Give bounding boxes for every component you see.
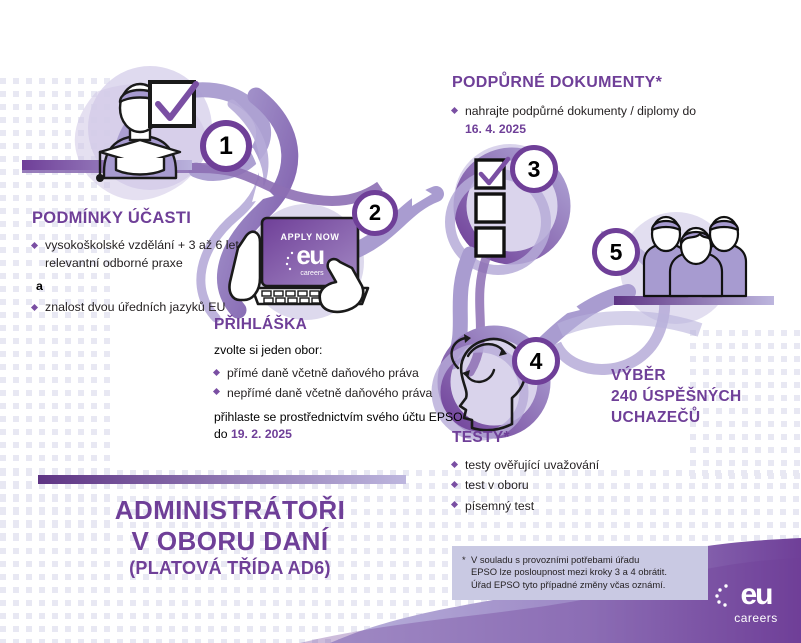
step-2-number-label: 2 [369, 200, 381, 226]
logo-careers-text: careers [724, 612, 788, 624]
step-1-bullet-1: vysokoškolské vzdělání + 3 až 6 let rele… [45, 238, 239, 270]
checkbox-list-icon [476, 159, 508, 256]
list-item: test v oboru [452, 476, 682, 495]
list-item: nahrajte podpůrné dokumenty / diplomy do… [452, 102, 712, 139]
step-4-bullet-1: testy ověřující uvažování [465, 458, 599, 472]
bullet-diamond-icon [451, 501, 458, 508]
list-item: testy ověřující uvažování [452, 456, 682, 475]
step-number-2: 2 [352, 190, 398, 236]
bullet-diamond-icon [451, 107, 458, 114]
step-5-heading-line-2: 240 ÚSPĚŠNÝCH [611, 387, 791, 408]
laptop-careers-logo: careers [300, 270, 324, 277]
step-2-text-block: PŘIHLÁŠKA zvolte si jeden obor: přímé da… [214, 316, 464, 444]
step-5-number-label: 5 [610, 239, 623, 266]
step-2-footer: přihlaste se prostřednictvím svého účtu … [214, 409, 464, 444]
footnote-line-2: EPSO lze posloupnost mezi kroky 3 a 4 ob… [471, 566, 698, 578]
list-item: písemný test [452, 497, 682, 516]
bullet-diamond-icon [213, 369, 220, 376]
list-item: přímé daně včetně daňového práva [214, 364, 464, 383]
bullet-diamond-icon [451, 481, 458, 488]
main-title-line-1: ADMINISTRÁTOŘI [20, 495, 440, 526]
step-number-5: 5 [592, 228, 640, 276]
bullet-diamond-icon [31, 242, 38, 249]
list-item: vysokoškolské vzdělání + 3 až 6 let rele… [32, 237, 267, 272]
step-1-conjunction: a [36, 279, 267, 293]
laptop-eu-logo: eu [296, 240, 324, 270]
main-title-block: ADMINISTRÁTOŘI V OBORU DANÍ (PLATOVÁ TŘÍ… [20, 495, 440, 582]
infographic-canvas: APPLY NOW eu careers [0, 0, 801, 643]
step-3-deadline-date: 16. 4. 2025 [465, 122, 526, 136]
step-2-heading: PŘIHLÁŠKA [214, 316, 464, 334]
step-5-heading-line-1: VÝBĚR [611, 366, 791, 387]
step-4-bullet-3: písemný test [465, 499, 534, 513]
step-3-text-block: PODPŮRNÉ DOKUMENTY* nahrajte podpůrné do… [452, 74, 712, 140]
step-1-heading: PODMÍNKY ÚČASTI [32, 209, 267, 228]
bullet-diamond-icon [451, 461, 458, 468]
step-3-bullet-text: nahrajte podpůrné dokumenty / diplomy do [465, 104, 696, 118]
step-4-text-block: TESTY* testy ověřující uvažování test v … [452, 429, 682, 517]
step-1-text-block: PODMÍNKY ÚČASTI vysokoškolské vzdělání +… [32, 209, 267, 318]
step-5-heading: VÝBĚR 240 ÚSPĚŠNÝCH UCHAZEČŮ [611, 366, 791, 428]
three-people-icon [644, 217, 746, 296]
logo-stars-icon [710, 582, 736, 608]
step-2-bullet-1: přímé daně včetně daňového práva [227, 366, 419, 380]
list-item: nepřímé daně včetně daňového práva [214, 384, 464, 403]
step-number-4: 4 [512, 337, 560, 385]
step-1-bullet-2: znalost dvou úředních jazyků EU [45, 300, 225, 314]
step-4-bullet-2: test v oboru [465, 478, 529, 492]
step-4-number-label: 4 [530, 348, 543, 375]
step-2-intro: zvolte si jeden obor: [214, 343, 464, 357]
step-3-number-label: 3 [528, 156, 541, 183]
step-5-text-block: VÝBĚR 240 ÚSPĚŠNÝCH UCHAZEČŮ [611, 366, 791, 428]
main-title-line-2: V OBORU DANÍ [20, 526, 440, 557]
step-4-heading: TESTY* [452, 429, 682, 447]
footnote-box: * V souladu s provozními potřebami úřadu… [452, 546, 708, 600]
list-item: znalost dvou úředních jazyků EU [32, 299, 267, 317]
step-1-number-label: 1 [219, 132, 233, 161]
step-5-heading-line-3: UCHAZEČŮ [611, 408, 791, 429]
title-divider-bar [38, 475, 406, 484]
step-3-heading: PODPŮRNÉ DOKUMENTY* [452, 74, 712, 92]
step-number-3: 3 [510, 145, 558, 193]
bullet-diamond-icon [213, 388, 220, 395]
footnote-line-3: Úřad EPSO tyto případné změny včas oznám… [471, 579, 698, 591]
eu-careers-logo: eu careers [724, 580, 788, 624]
bullet-diamond-icon [31, 304, 38, 311]
step-number-1: 1 [200, 120, 252, 172]
footnote-marker: * [462, 554, 466, 566]
step-2-deadline-date: 19. 2. 2025 [231, 427, 292, 441]
footnote-line-1: V souladu s provozními potřebami úřadu [471, 554, 698, 566]
step-2-bullet-2: nepřímé daně včetně daňového práva [227, 386, 432, 400]
main-title-line-3: (PLATOVÁ TŘÍDA AD6) [20, 556, 440, 581]
